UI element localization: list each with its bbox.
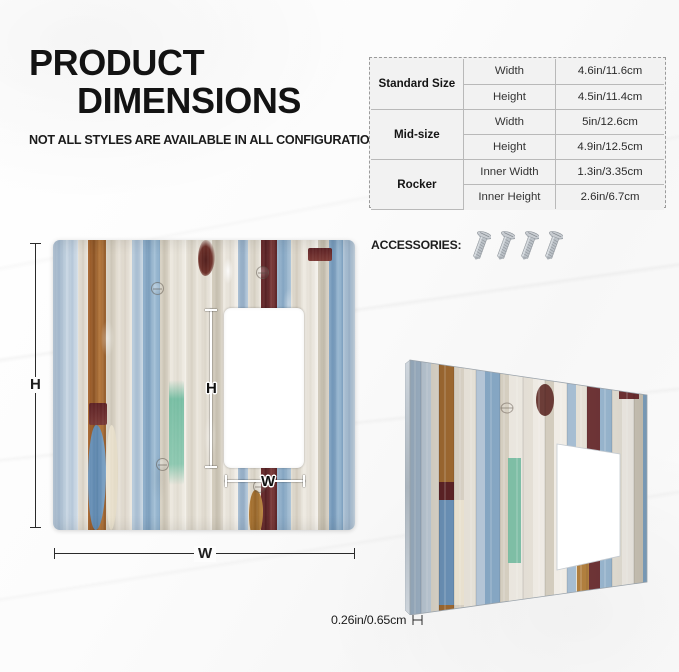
screw-boss-icon <box>151 282 164 295</box>
thickness-callout: 0.26in/0.65cm <box>331 612 427 628</box>
screw-icon <box>519 228 539 262</box>
spec-table: Standard Size Width 4.6in/11.6cm Height … <box>371 59 664 210</box>
outer-height-label: H <box>26 377 45 393</box>
product-dimensions-infographic: PRODUCT DIMENSIONS NOT ALL STYLES ARE AV… <box>0 0 679 672</box>
spec-table-container: Standard Size Width 4.6in/11.6cm Height … <box>369 57 666 208</box>
spec-category-standard: Standard Size <box>371 59 463 109</box>
accessories-section: ACCESSORIES: <box>371 228 563 262</box>
dimension-cap <box>303 475 305 487</box>
spec-dimension: Width <box>463 59 555 84</box>
angled-plate-svg <box>405 340 655 615</box>
spec-value: 4.9in/12.5cm <box>556 134 664 159</box>
dimension-cap <box>54 548 55 559</box>
title-line-product: PRODUCT <box>29 44 359 82</box>
spec-dimension: Inner Width <box>463 159 555 184</box>
screw-boss-icon <box>256 266 269 279</box>
screw-icon <box>495 228 515 262</box>
spec-value: 4.5in/11.4cm <box>556 84 664 109</box>
spec-value: 2.6in/6.7cm <box>556 184 664 209</box>
dimension-cap <box>225 475 227 487</box>
spec-category-rocker: Rocker <box>371 159 463 209</box>
wall-plate-angled-view <box>405 340 655 615</box>
thickness-dimension-bracket <box>411 612 427 628</box>
spec-value: 1.3in/3.35cm <box>556 159 664 184</box>
inner-height-label: H <box>203 381 220 397</box>
screw-icon <box>471 228 491 262</box>
screw-boss-icon <box>156 458 169 471</box>
spec-dimension: Width <box>463 109 555 134</box>
table-row: Mid-size Width 5in/12.6cm <box>371 109 664 134</box>
thickness-label: 0.26in/0.65cm <box>331 613 406 627</box>
screw-icon <box>543 228 563 262</box>
spec-value: 5in/12.6cm <box>556 109 664 134</box>
table-row: Rocker Inner Width 1.3in/3.35cm <box>371 159 664 184</box>
screws-group <box>471 228 563 262</box>
outer-width-label: W <box>194 546 216 562</box>
switch-cutout-front <box>224 308 304 468</box>
dimension-cap <box>205 309 217 311</box>
page-subtitle: NOT ALL STYLES ARE AVAILABLE IN ALL CONF… <box>29 133 359 147</box>
dimension-cap <box>354 548 355 559</box>
page-title: PRODUCT DIMENSIONS NOT ALL STYLES ARE AV… <box>29 44 359 147</box>
accessories-label: ACCESSORIES: <box>371 238 461 252</box>
spec-category-midsize: Mid-size <box>371 109 463 159</box>
dimension-cap <box>30 243 41 244</box>
spec-dimension: Inner Height <box>463 184 555 209</box>
switch-cutout-angled <box>557 444 620 570</box>
dimension-cap <box>205 466 217 468</box>
table-row: Standard Size Width 4.6in/11.6cm <box>371 59 664 84</box>
spec-dimension: Height <box>463 134 555 159</box>
spec-dimension: Height <box>463 84 555 109</box>
spec-value: 4.6in/11.6cm <box>556 59 664 84</box>
inner-width-label: W <box>258 474 278 490</box>
title-line-dimensions: DIMENSIONS <box>29 82 359 120</box>
dimension-cap <box>30 527 41 528</box>
